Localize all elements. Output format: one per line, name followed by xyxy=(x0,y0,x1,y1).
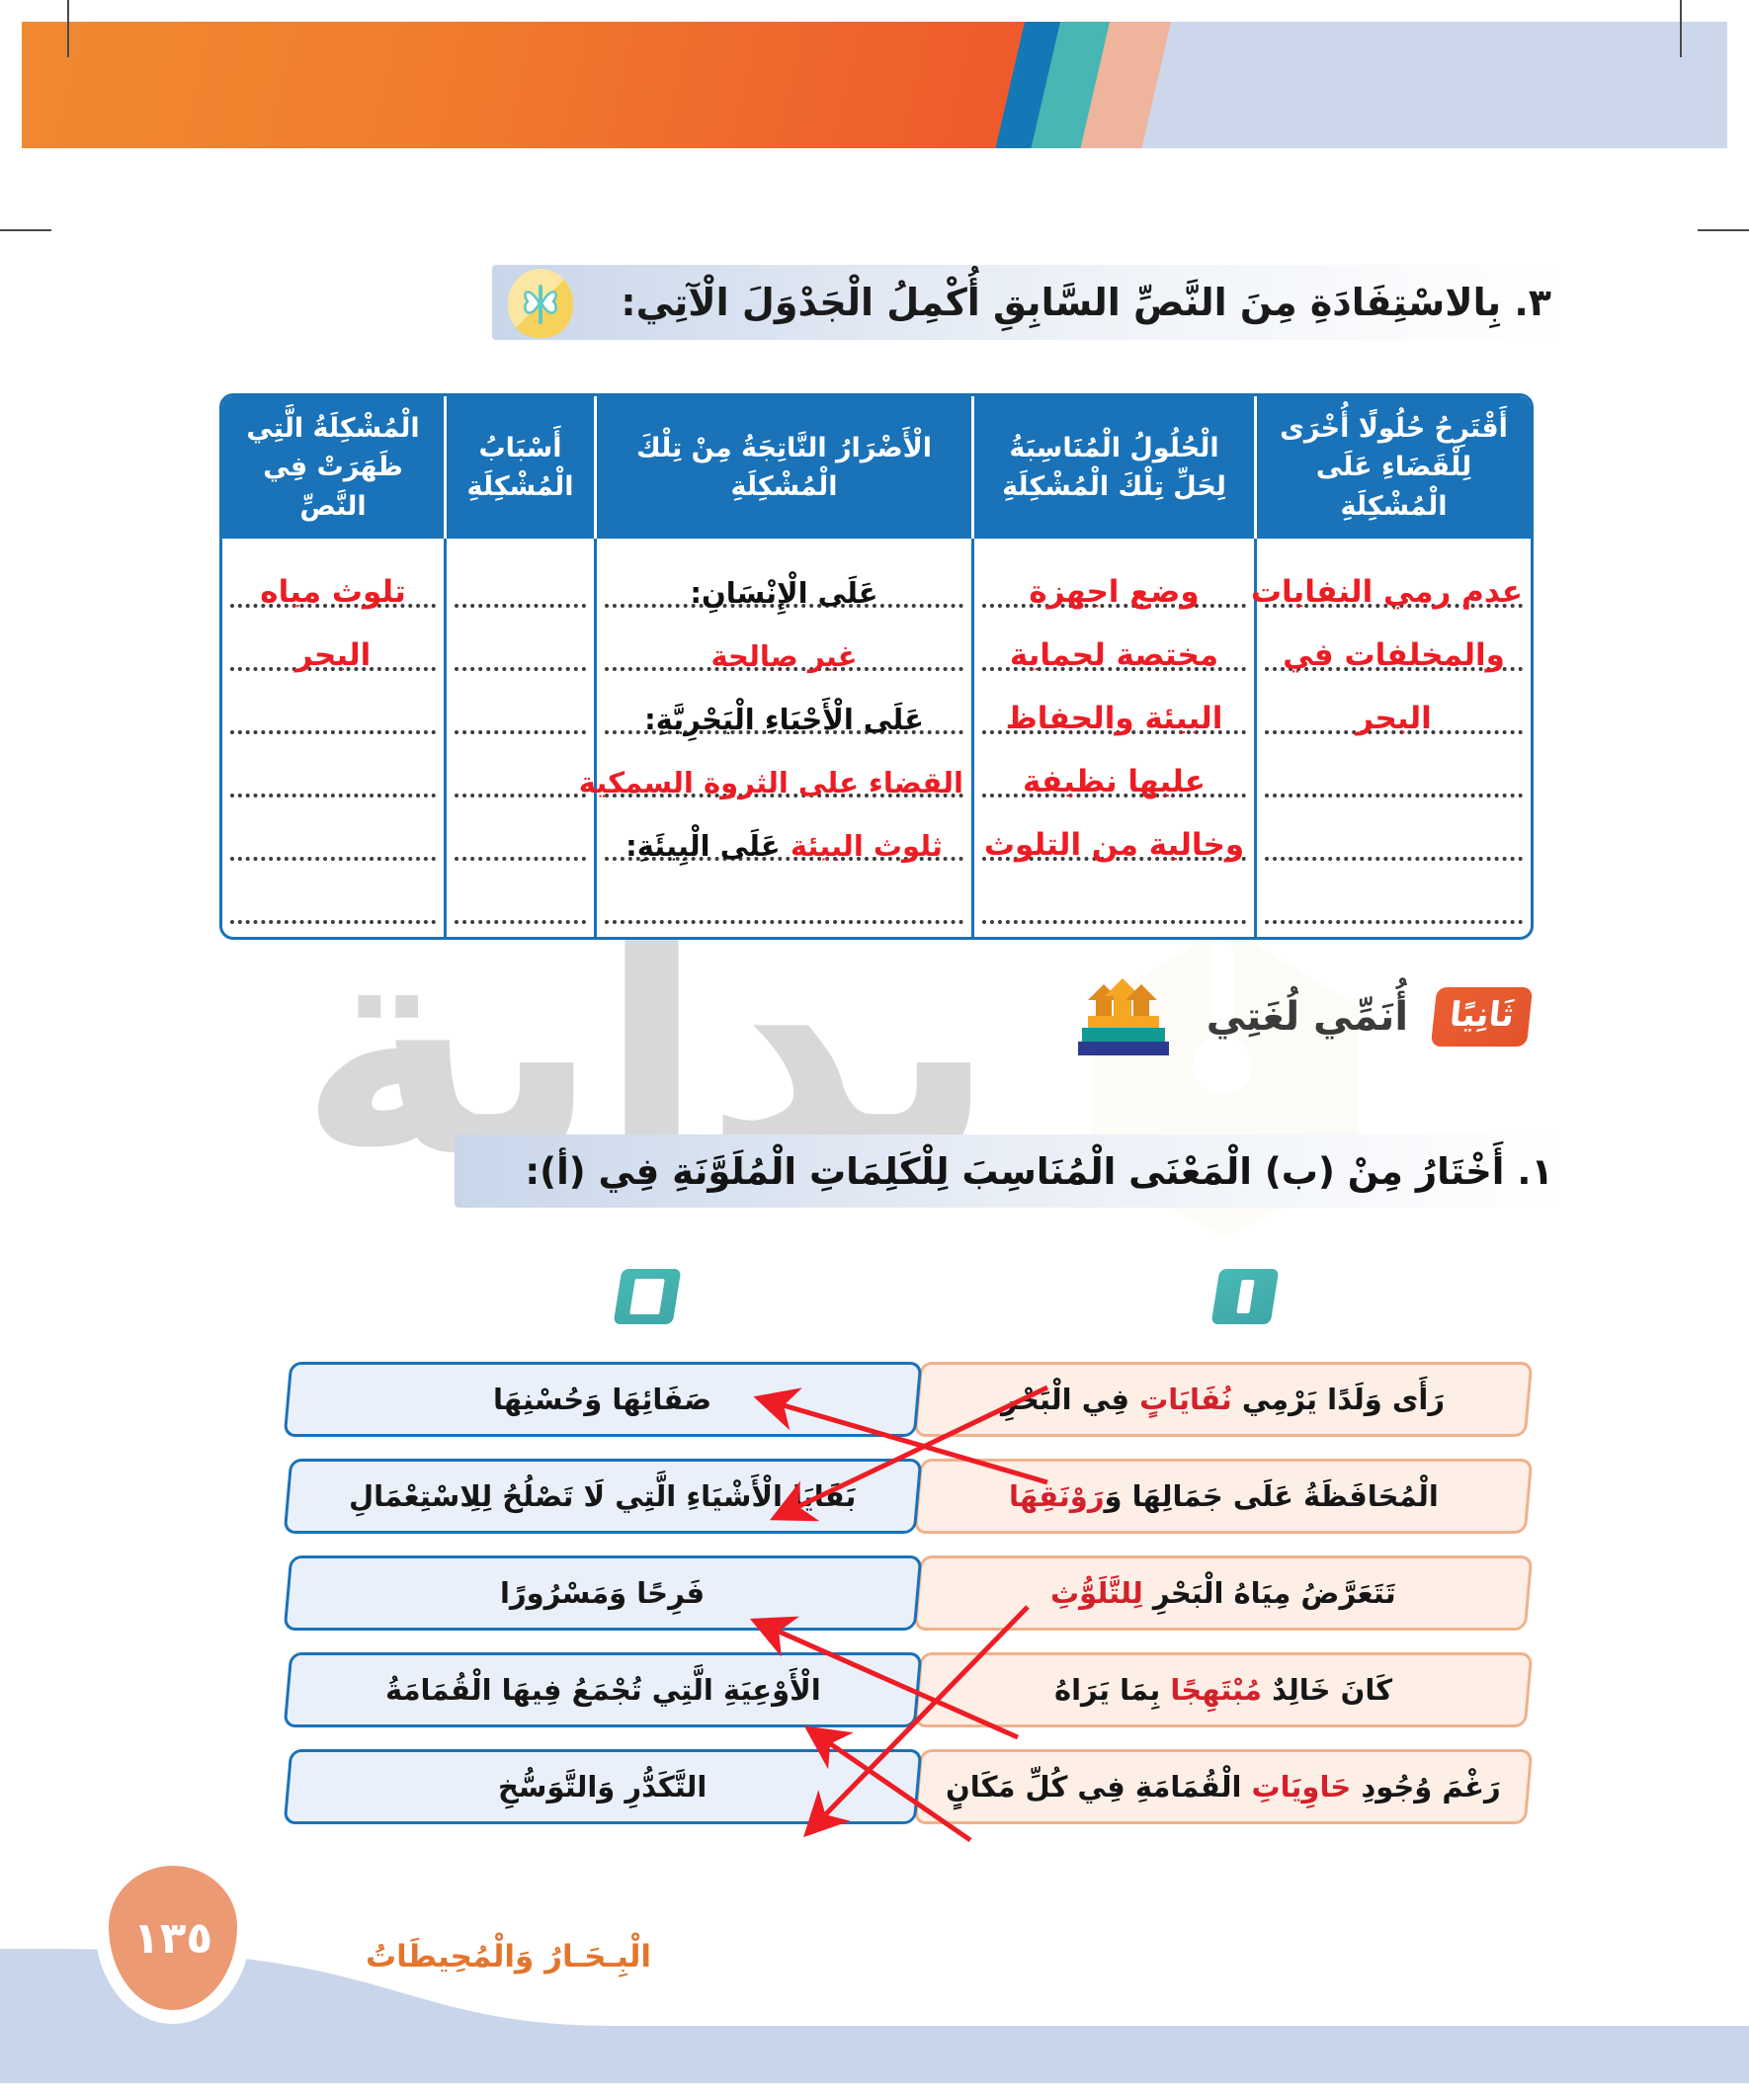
list-item[interactable]: رَأَى وَلَدًا يَرْمِي نُفَايَاتٍ فِي الْ… xyxy=(914,1362,1534,1437)
list-item[interactable]: الْمُحَافَظَةُ عَلَى جَمَالِهَا وَرَوْنَ… xyxy=(914,1459,1534,1534)
footer-wave xyxy=(0,1915,1749,2100)
question-1-header: ١. أَخْتَارُ مِنْ (ب) الْمَعْنَى الْمُنَ… xyxy=(455,1134,1567,1208)
table-cell-damages[interactable]: عَلَى الْإِنْسَانِ: غير صالحة عَلَى الْأ… xyxy=(594,539,971,940)
butterfly-icon xyxy=(508,269,573,338)
table-header-row: أَقْتَرِحُ حُلُولًا أُخْرَى لِلْقَضَاءِ … xyxy=(222,396,1531,539)
matching-column-a: رَأَى وَلَدًا يَرْمِي نُفَايَاتٍ فِي الْ… xyxy=(917,1362,1530,1846)
table-cell-solutions[interactable]: وضع اجهزة مختصة لحماية البيئة والحفاظ عل… xyxy=(971,539,1254,940)
section-2-header: ثَانِيًا أُنَمِّي لُغَتِي xyxy=(1066,978,1530,1055)
damage-line-marine-answer: القضاء على الثروة السمكية xyxy=(605,766,963,799)
answer-line: وضع اجهزة xyxy=(982,548,1246,608)
answer-line xyxy=(455,675,586,734)
letter-baa-glyph xyxy=(629,1279,665,1314)
question-3-header: ٣. بِالاسْتِفَادَةِ مِنَ النَّصِّ السَّا… xyxy=(492,265,1567,340)
answer-line: والمخلفات في xyxy=(1265,612,1523,671)
list-item[interactable]: فَرِحًا وَمَسْرُورًا xyxy=(284,1555,923,1631)
answer-line xyxy=(455,738,586,798)
table-cell-other-solutions[interactable]: عدم رمي النفايات والمخلفات في البحر xyxy=(1254,539,1531,940)
answer-line: القضاء على الثروة السمكية xyxy=(605,738,963,798)
answer-line xyxy=(455,612,586,671)
table-body: عدم رمي النفايات والمخلفات في البحر وضع … xyxy=(222,539,1531,940)
list-item[interactable]: بَقَايَا الْأَشْيَاءِ الَّتِي لَا تَصْلُ… xyxy=(284,1459,923,1534)
answer-line xyxy=(230,738,436,798)
crop-mark-left-top xyxy=(0,229,51,231)
answer-line xyxy=(230,675,436,734)
banner-band-grey xyxy=(1112,22,1727,148)
table-header-problem: الْمُشْكِلَةُ الَّتِي ظَهَرَتْ فِي النَّ… xyxy=(222,396,444,539)
answer-line xyxy=(1265,738,1523,798)
answer-line: البحر xyxy=(230,612,436,671)
answer-line xyxy=(230,801,436,861)
damage-line-environment: ثلوث البيئة عَلَى الْبِيئَةِ: xyxy=(605,829,963,863)
answer-line: البحر xyxy=(1265,675,1523,734)
matching-column-b: صَفَائِهَا وَحُسْنِهَا بَقَايَا الْأَشْي… xyxy=(287,1362,919,1846)
column-marker-alef xyxy=(1215,1269,1275,1324)
answer-line: عَلَى الْإِنْسَانِ: xyxy=(605,548,963,608)
section-order-badge: ثَانِيًا xyxy=(1431,987,1533,1047)
answer-line xyxy=(982,865,1246,924)
letter-alef-glyph xyxy=(1236,1280,1254,1313)
answer-line: عدم رمي النفايات xyxy=(1265,548,1523,608)
list-item[interactable]: كَانَ خَالِدٌ مُبْتَهِجًا بِمَا يَرَاهُ xyxy=(914,1652,1534,1727)
damage-line-human-answer: غير صالحة xyxy=(605,639,963,673)
answer-line xyxy=(230,865,436,924)
column-marker-baa xyxy=(618,1269,677,1324)
answer-line xyxy=(1265,865,1523,924)
answer-line: وخالية من التلوث xyxy=(982,801,1246,861)
answer-line xyxy=(605,865,963,924)
crop-mark-top-left xyxy=(67,0,69,57)
damage-line-human-label: عَلَى الْإِنْسَانِ: xyxy=(605,576,963,610)
answer-line: البيئة والحفاظ xyxy=(982,675,1246,734)
table-header-solutions: الْحُلُولُ الْمُنَاسِبَةُ لِحَلِّ تِلْكَ… xyxy=(971,396,1254,539)
list-item[interactable]: الْأَوْعِيَةِ الَّتِي تُجْمَعُ فِيهَا ال… xyxy=(284,1652,923,1727)
answer-line: ثلوث البيئة عَلَى الْبِيئَةِ: xyxy=(605,801,963,861)
table-cell-causes[interactable] xyxy=(444,539,594,940)
list-item[interactable]: صَفَائِهَا وَحُسْنِهَا xyxy=(284,1362,923,1437)
answer-line xyxy=(1265,801,1523,861)
list-item[interactable]: تَتَعَرَّضُ مِيَاهُ الْبَحْرِ لِلتَّلَوُ… xyxy=(914,1555,1534,1631)
table-cell-problem[interactable]: تلوث مياه البحر xyxy=(222,539,444,940)
section-2-title: أُنَمِّي لُغَتِي xyxy=(1207,994,1408,1040)
table-header-damages: الْأَضْرَارُ النَّاتِجَةُ مِنْ تِلْكَ ال… xyxy=(594,396,971,539)
list-item[interactable]: رَغْمَ وُجُودِ حَاوِيَاتِ الْقُمَامَةِ ف… xyxy=(914,1749,1534,1824)
crop-mark-top-right xyxy=(1680,0,1682,57)
table-header-causes: أَسْبَابُ الْمُشْكِلَةِ xyxy=(444,396,594,539)
header-banner xyxy=(22,22,1727,148)
question-3-text: ٣. بِالاسْتِفَادَةِ مِنَ النَّصِّ السَّا… xyxy=(621,281,1567,324)
question-1-text: ١. أَخْتَارُ مِنْ (ب) الْمَعْنَى الْمُنَ… xyxy=(525,1150,1567,1193)
list-item[interactable]: التَّكَدُّرِ وَالتَّوَسُّخِ xyxy=(284,1749,923,1824)
problem-solution-table: أَقْتَرِحُ حُلُولًا أُخْرَى لِلْقَضَاءِ … xyxy=(219,393,1534,940)
textbook-page: بداية beadaya.com ٣. بِالاسْتِفَادَةِ مِ… xyxy=(0,0,1749,2100)
answer-line: تلوث مياه xyxy=(230,548,436,608)
damage-line-marine-label: عَلَى الْأَحْيَاءِ الْبَحْرِيَّةِ: xyxy=(605,703,963,736)
answer-line: غير صالحة xyxy=(605,612,963,671)
answer-line xyxy=(455,865,586,924)
answer-line: عَلَى الْأَحْيَاءِ الْبَحْرِيَّةِ: xyxy=(605,675,963,734)
answer-line: مختصة لحماية xyxy=(982,612,1246,671)
banner-band-orange xyxy=(22,22,1027,148)
crop-mark-right-top xyxy=(1698,229,1749,231)
table-header-other-solutions: أَقْتَرِحُ حُلُولًا أُخْرَى لِلْقَضَاءِ … xyxy=(1254,396,1531,539)
answer-line xyxy=(455,548,586,608)
books-arrows-icon xyxy=(1066,978,1181,1055)
answer-line xyxy=(455,801,586,861)
footer-lesson-title: الْبِـحَـارُ وَالْمُحِيطَاتُ xyxy=(366,1939,651,1974)
answer-line: عليها نظيفة xyxy=(982,738,1246,798)
